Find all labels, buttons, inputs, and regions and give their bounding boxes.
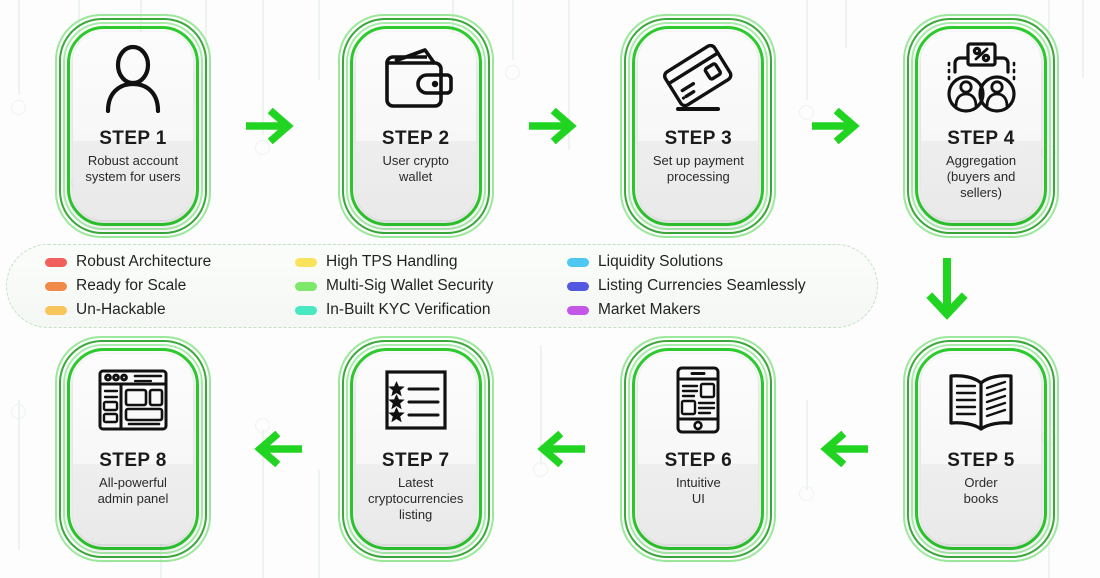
features-legend: Robust Architecture Ready for Scale Un-H… (6, 244, 878, 328)
step-title: STEP 8 (99, 450, 167, 472)
step-card-body-6: STEP 6 IntuitiveUI (638, 354, 758, 544)
step-description: Robust accountsystem for users (85, 153, 180, 185)
step-card-body-2: STEP 2 User cryptowallet (356, 32, 476, 220)
legend-label: In-Built KYC Verification (326, 302, 491, 318)
step-title: STEP 4 (947, 128, 1015, 150)
legend-label: Liquidity Solutions (598, 254, 723, 270)
step-card-text-1: STEP 1 Robust accountsystem for users (73, 124, 193, 220)
percent-buyers-sellers-icon (921, 32, 1041, 124)
wallet-icon (356, 32, 476, 124)
step-title: STEP 1 (99, 128, 167, 150)
step-title: STEP 2 (382, 128, 450, 150)
step-card-text-8: STEP 8 All-powerfuladmin panel (73, 446, 193, 544)
step-card-text-3: STEP 3 Set up paymentprocessing (638, 124, 758, 220)
legend-swatch-icon (45, 306, 67, 315)
step-title: STEP 7 (382, 450, 450, 472)
mobile-ui-icon (638, 354, 758, 446)
legend-label: Un-Hackable (76, 302, 166, 318)
step-card-6[interactable]: STEP 6 IntuitiveUI (609, 336, 787, 562)
step-card-5[interactable]: STEP 5 Orderbooks (892, 336, 1070, 562)
legend-swatch-icon (295, 258, 317, 267)
legend-label: Market Makers (598, 302, 701, 318)
admin-dashboard-icon (73, 354, 193, 446)
step-card-8[interactable]: STEP 8 All-powerfuladmin panel (44, 336, 222, 562)
steps-row-bottom: STEP 8 All-powerfuladmin panel (44, 336, 1070, 562)
step-description: User cryptowallet (382, 153, 448, 185)
step-card-1[interactable]: STEP 1 Robust accountsystem for users (44, 14, 222, 238)
legend-item: Listing Currencies Seamlessly (567, 276, 867, 297)
legend-swatch-icon (567, 282, 589, 291)
step-card-text-4: STEP 4 Aggregation(buyers and sellers) (921, 124, 1041, 220)
legend-swatch-icon (567, 258, 589, 267)
step-description: IntuitiveUI (676, 475, 721, 507)
step-card-body-3: STEP 3 Set up paymentprocessing (638, 32, 758, 220)
infographic-canvas: STEP 1 Robust accountsystem for users (0, 0, 1100, 578)
legend-swatch-icon (295, 306, 317, 315)
step-title: STEP 3 (665, 128, 733, 150)
step-card-4[interactable]: STEP 4 Aggregation(buyers and sellers) (892, 14, 1070, 238)
user-account-icon (73, 32, 193, 124)
legend-item: High TPS Handling (295, 252, 567, 273)
legend-swatch-icon (295, 282, 317, 291)
step-card-body-4: STEP 4 Aggregation(buyers and sellers) (921, 32, 1041, 220)
arrow-right-1-2 (222, 14, 327, 238)
step-card-body-5: STEP 5 Orderbooks (921, 354, 1041, 544)
legend-item: Market Makers (567, 300, 867, 321)
legend-label: Multi-Sig Wallet Security (326, 278, 493, 294)
arrow-right-3-4 (787, 14, 892, 238)
step-title: STEP 6 (665, 450, 733, 472)
legend-label: Ready for Scale (76, 278, 186, 294)
arrow-down-4-5 (916, 258, 978, 333)
legend-item: Multi-Sig Wallet Security (295, 276, 567, 297)
step-card-7[interactable]: STEP 7 Latestcryptocurrencieslisting (327, 336, 505, 562)
legend-item: Un-Hackable (45, 300, 295, 321)
legend-item: Liquidity Solutions (567, 252, 867, 273)
legend-label: High TPS Handling (326, 254, 458, 270)
step-card-2[interactable]: STEP 2 User cryptowallet (327, 14, 505, 238)
legend-column-2: High TPS Handling Multi-Sig Wallet Secur… (295, 252, 567, 321)
step-card-text-2: STEP 2 User cryptowallet (356, 124, 476, 220)
step-description: Set up paymentprocessing (653, 153, 744, 185)
legend-item: Robust Architecture (45, 252, 295, 273)
star-list-icon (356, 354, 476, 446)
legend-column-3: Liquidity Solutions Listing Currencies S… (567, 252, 867, 321)
legend-swatch-icon (45, 282, 67, 291)
steps-row-top: STEP 1 Robust accountsystem for users (44, 14, 1070, 238)
step-card-body-8: STEP 8 All-powerfuladmin panel (73, 354, 193, 544)
step-card-body-7: STEP 7 Latestcryptocurrencieslisting (356, 354, 476, 544)
step-card-body-1: STEP 1 Robust accountsystem for users (73, 32, 193, 220)
step-card-text-5: STEP 5 Orderbooks (921, 446, 1041, 544)
arrow-left-6-7 (505, 336, 610, 562)
legend-item: Ready for Scale (45, 276, 295, 297)
legend-label: Listing Currencies Seamlessly (598, 278, 806, 294)
step-title: STEP 5 (947, 450, 1015, 472)
arrow-left-7-8 (222, 336, 327, 562)
step-card-text-6: STEP 6 IntuitiveUI (638, 446, 758, 544)
step-description: All-powerfuladmin panel (98, 475, 169, 507)
legend-item: In-Built KYC Verification (295, 300, 567, 321)
credit-card-icon (638, 32, 758, 124)
legend-column-1: Robust Architecture Ready for Scale Un-H… (45, 252, 295, 321)
step-card-3[interactable]: STEP 3 Set up paymentprocessing (609, 14, 787, 238)
legend-swatch-icon (567, 306, 589, 315)
legend-label: Robust Architecture (76, 254, 211, 270)
step-description: Orderbooks (964, 475, 999, 507)
arrow-left-5-6 (787, 336, 892, 562)
arrow-right-2-3 (505, 14, 610, 238)
step-description: Aggregation(buyers and sellers) (927, 153, 1035, 201)
step-description: Latestcryptocurrencieslisting (368, 475, 463, 523)
step-card-text-7: STEP 7 Latestcryptocurrencieslisting (356, 446, 476, 544)
open-book-icon (921, 354, 1041, 446)
legend-swatch-icon (45, 258, 67, 267)
